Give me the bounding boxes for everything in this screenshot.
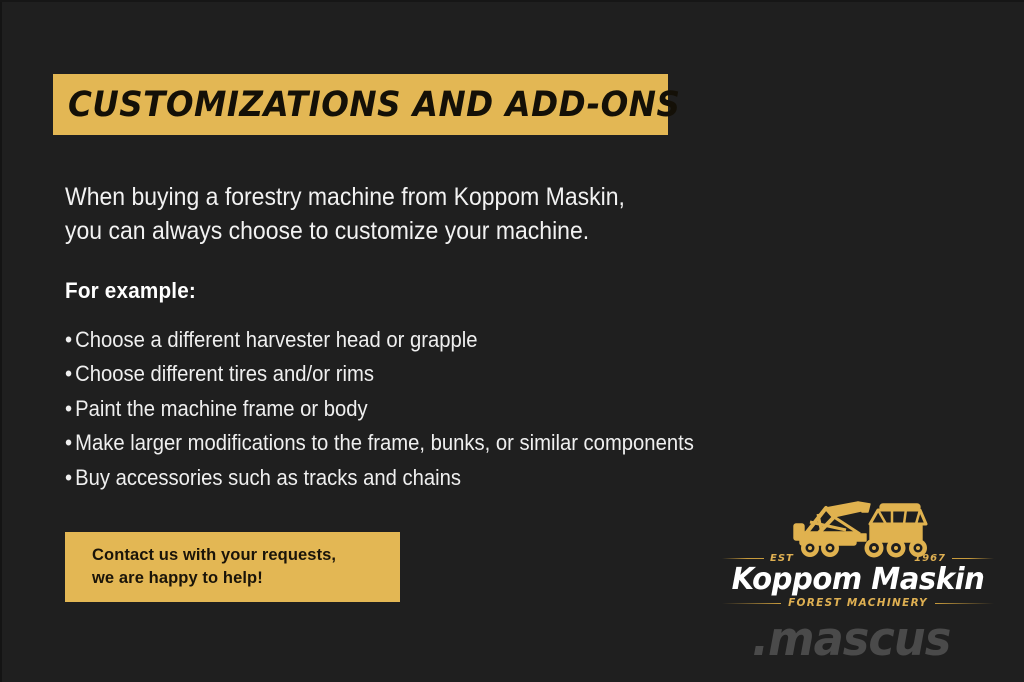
contact-line-1: Contact us with your requests, [92,544,400,567]
bullet-icon: • [65,323,75,357]
list-item-label: Choose different tires and/or rims [75,361,374,386]
bullet-icon: • [65,392,75,426]
list-item-label: Choose a different harvester head or gra… [75,327,477,352]
list-item: •Choose a different harvester head or gr… [65,323,801,357]
tagline-rule-left [722,603,781,604]
subhead-for-example: For example: [65,278,196,304]
list-item-label: Make larger modifications to the frame, … [75,430,694,455]
koppom-maskin-logo: EST 1967 Koppom Maskin FOREST MACHINERY [722,500,994,610]
logo-rule-left [722,558,764,559]
list-item: •Make larger modifications to the frame,… [65,426,801,460]
logo-tagline-row: FOREST MACHINERY [722,597,994,609]
list-item: •Choose different tires and/or rims [65,357,801,391]
list-item-label: Buy accessories such as tracks and chain… [75,465,461,490]
bullet-icon: • [65,357,75,391]
customization-options-list: •Choose a different harvester head or gr… [65,323,865,495]
logo-tagline: FOREST MACHINERY [788,597,928,609]
bullet-icon: • [65,461,75,495]
tagline-rule-right [935,603,994,604]
title-banner: CUSTOMIZATIONS AND ADD-ONS [53,74,668,135]
list-item-label: Paint the machine frame or body [75,396,368,421]
intro-line-2: you can always choose to customize your … [65,214,783,248]
contact-line-2: we are happy to help! [92,567,400,590]
logo-wordmark: Koppom Maskin [726,562,990,597]
contact-cta-box[interactable]: Contact us with your requests, we are ha… [65,532,400,602]
list-item: •Buy accessories such as tracks and chai… [65,461,801,495]
page-title: CUSTOMIZATIONS AND ADD-ONS [68,85,680,125]
slide-canvas: CUSTOMIZATIONS AND ADD-ONS When buying a… [0,0,1024,682]
mascus-watermark: .mascus [752,612,950,667]
bullet-icon: • [65,426,75,460]
logo-rule-right [952,558,994,559]
intro-line-1: When buying a forestry machine from Kopp… [65,180,783,214]
list-item: •Paint the machine frame or body [65,392,801,426]
intro-paragraph: When buying a forestry machine from Kopp… [65,180,783,248]
